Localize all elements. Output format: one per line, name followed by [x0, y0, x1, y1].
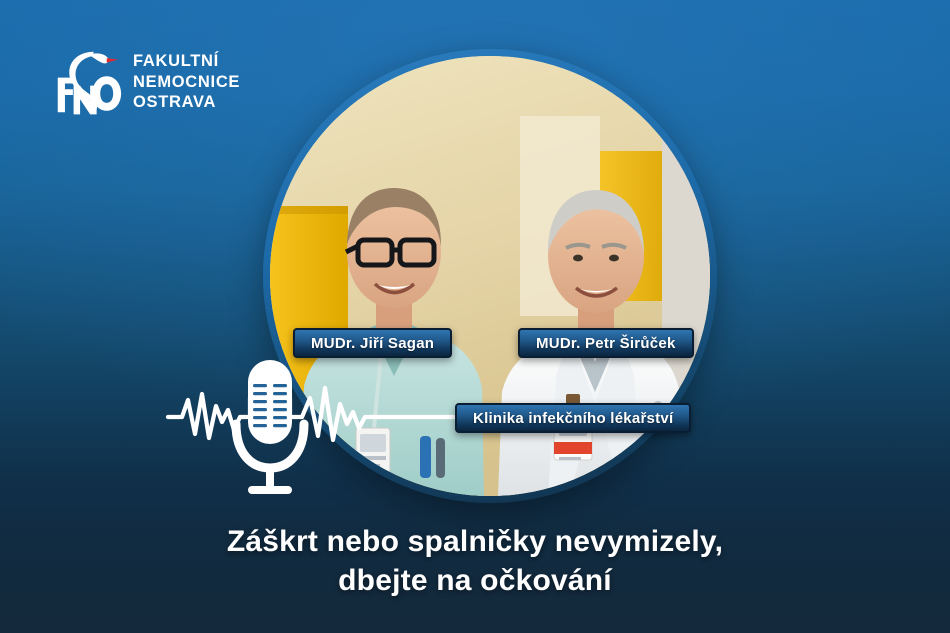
doctors-photo-circle [263, 49, 717, 503]
badge-doctor-left: MUDr. Jiří Sagan [293, 328, 452, 358]
logo-wordmark: Fakultní Nemocnice Ostrava [133, 51, 240, 113]
fno-swan-logo-icon [52, 46, 124, 118]
badge-doctor-right: MUDr. Petr Širůček [518, 328, 694, 358]
poster-title: Záškrt nebo spalničky nevymizely, dbejte… [0, 522, 950, 600]
podcast-poster: Fakultní Nemocnice Ostrava [0, 0, 950, 633]
hospital-logo: Fakultní Nemocnice Ostrava [52, 46, 240, 118]
badge-department: Klinika infekčního lékařství [455, 403, 691, 433]
